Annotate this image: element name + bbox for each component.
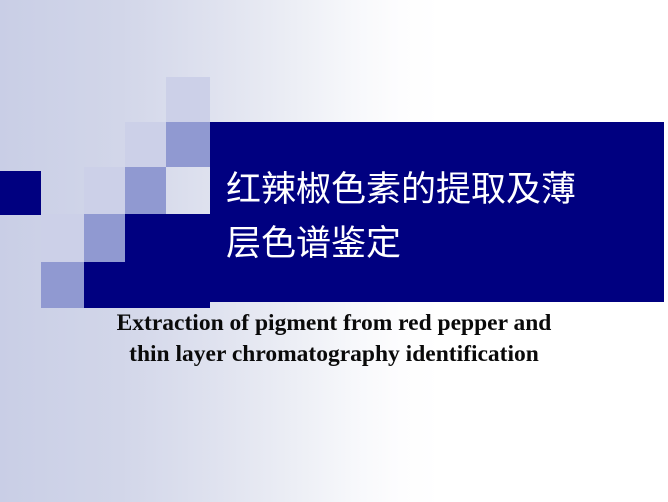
slide-title-cn-line2: 层色谱鉴定	[226, 217, 656, 271]
slide-subtitle-en: Extraction of pigment from red pepper an…	[0, 308, 668, 370]
mosaic-block-navy-r5c2	[84, 262, 210, 308]
mosaic-block-navy-left	[0, 171, 41, 215]
mosaic-block-light-r4c1	[41, 214, 84, 262]
presentation-slide: 红辣椒色素的提取及薄 层色谱鉴定 Extraction of pigment f…	[0, 0, 668, 502]
slide-title-cn-line1: 红辣椒色素的提取及薄	[226, 163, 656, 217]
mosaic-block-mid-r4c2	[84, 214, 125, 262]
mosaic-block-light-top	[166, 77, 210, 122]
mosaic-block-navy-r4c3	[125, 214, 210, 262]
mosaic-block-light-r2c3	[125, 122, 166, 167]
slide-title-cn: 红辣椒色素的提取及薄 层色谱鉴定	[226, 163, 656, 271]
slide-subtitle-en-line2: thin layer chromatography identification	[0, 339, 668, 370]
mosaic-block-mid-r5c1	[41, 262, 84, 308]
slide-subtitle-en-line1: Extraction of pigment from red pepper an…	[0, 308, 668, 339]
mosaic-block-mid-r2c4	[166, 122, 210, 167]
mosaic-block-mid-r3c3	[125, 167, 166, 214]
mosaic-block-light-r3c2	[84, 167, 125, 214]
